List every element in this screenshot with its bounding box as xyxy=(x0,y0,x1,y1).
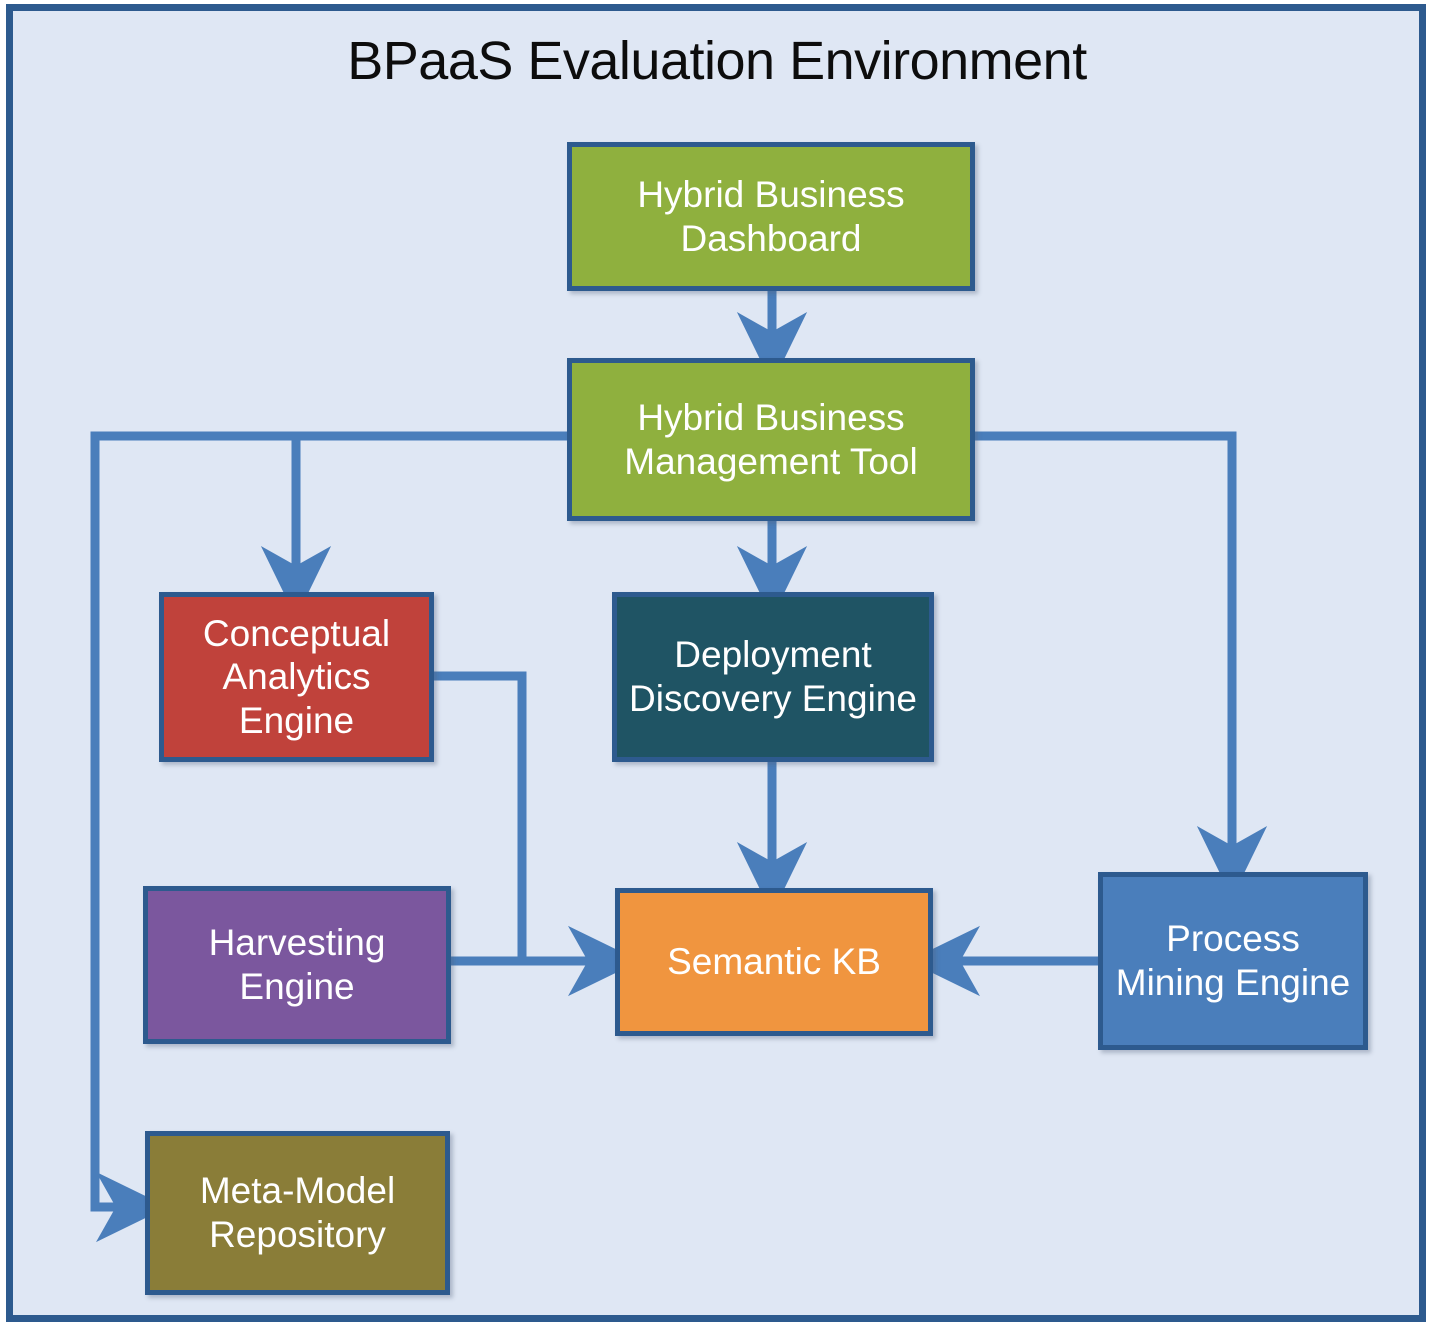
node-conceptual-analytics-engine[interactable]: Conceptual Analytics Engine xyxy=(159,592,434,762)
node-label: Harvesting Engine xyxy=(154,921,440,1008)
node-hybrid-business-management-tool[interactable]: Hybrid Business Management Tool xyxy=(567,358,975,521)
node-label: Hybrid Business Management Tool xyxy=(578,396,964,483)
node-label: Deployment Discovery Engine xyxy=(623,633,923,720)
node-hybrid-business-dashboard[interactable]: Hybrid Business Dashboard xyxy=(567,142,975,291)
page-title: BPaaS Evaluation Environment xyxy=(0,32,1434,91)
node-meta-model-repository[interactable]: Meta-Model Repository xyxy=(145,1131,450,1295)
node-deployment-discovery-engine[interactable]: Deployment Discovery Engine xyxy=(612,592,934,762)
node-semantic-kb[interactable]: Semantic KB xyxy=(615,888,933,1036)
node-label: Semantic KB xyxy=(626,940,922,984)
node-process-mining-engine[interactable]: Process Mining Engine xyxy=(1098,872,1368,1050)
diagram-page: BPaaS Evaluation Environment xyxy=(0,0,1434,1344)
node-label: Hybrid Business Dashboard xyxy=(578,173,964,260)
node-label: Conceptual Analytics Engine xyxy=(170,612,423,743)
node-label: Process Mining Engine xyxy=(1109,917,1357,1004)
node-harvesting-engine[interactable]: Harvesting Engine xyxy=(143,886,451,1044)
node-label: Meta-Model Repository xyxy=(156,1169,439,1256)
